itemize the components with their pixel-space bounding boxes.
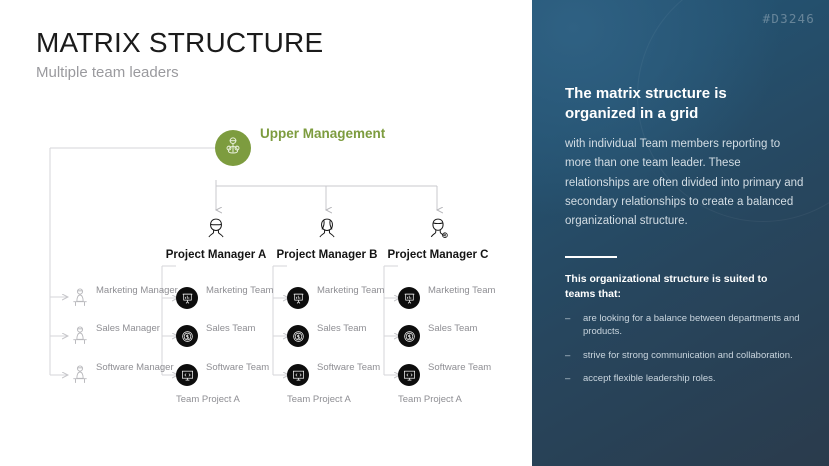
team-label: Sales Team <box>317 322 366 335</box>
team-label: Sales Team <box>206 322 255 335</box>
project-caption: Team Project A <box>176 394 296 405</box>
manager-label: Sales Manager <box>96 322 160 335</box>
team-row[interactable]: Marketing Team <box>176 287 294 313</box>
coin-dollar-icon <box>398 325 420 347</box>
manager-label: Software Manager <box>96 361 174 374</box>
team-label: Software Team <box>206 361 269 374</box>
panel-subheading: This organizational structure is suited … <box>565 272 795 302</box>
list-item: – accept flexible leadership roles. <box>565 372 805 385</box>
project-caption: Team Project A <box>398 394 518 405</box>
project-column-c: Project Manager C <box>382 213 494 263</box>
project-column-b: Project Manager B <box>271 213 383 263</box>
upper-management-node[interactable] <box>215 130 251 166</box>
panel-heading: The matrix structure is organized in a g… <box>565 84 795 125</box>
person-desk-icon <box>70 325 90 347</box>
presentation-board-icon <box>398 287 420 309</box>
list-item-text: are looking for a balance between depart… <box>583 313 800 337</box>
manager-row-sales[interactable]: Sales Manager <box>70 325 190 351</box>
monitor-code-icon <box>287 364 309 386</box>
people-group-icon <box>222 135 244 162</box>
project-caption: Team Project A <box>287 394 407 405</box>
team-label: Software Team <box>317 361 380 374</box>
manager-row-software[interactable]: Software Manager <box>70 364 190 390</box>
manager-row-marketing[interactable]: Marketing Manager <box>70 287 190 313</box>
bullet-dash: – <box>565 372 570 385</box>
presentation-board-icon <box>287 287 309 309</box>
team-label: Sales Team <box>428 322 477 335</box>
project-column-a: Project Manager A <box>160 213 272 263</box>
matrix-org-diagram: Upper Management Project Manager A <box>0 0 532 466</box>
team-row[interactable]: Sales Team <box>287 325 405 351</box>
coin-dollar-icon <box>287 325 309 347</box>
team-row[interactable]: Sales Team <box>398 325 516 351</box>
person-avatar-registered-icon <box>382 213 494 245</box>
project-manager-name: Project Manager B <box>271 248 383 263</box>
document-code: #D3246 <box>763 11 815 26</box>
team-row[interactable]: Software Team <box>398 364 516 390</box>
project-manager-name: Project Manager A <box>160 248 272 263</box>
team-row[interactable]: Software Team <box>287 364 405 390</box>
upper-management-label: Upper Management <box>260 125 390 142</box>
person-avatar-icon <box>271 213 383 245</box>
team-label: Marketing Team <box>317 284 384 297</box>
bullet-dash: – <box>565 312 570 325</box>
team-label: Software Team <box>428 361 491 374</box>
panel-divider <box>565 256 617 258</box>
info-panel: #D3246 The matrix structure is organized… <box>532 0 829 466</box>
person-avatar-icon <box>160 213 272 245</box>
project-manager-name: Project Manager C <box>382 248 494 263</box>
team-label: Marketing Team <box>206 284 273 297</box>
team-row[interactable]: Marketing Team <box>287 287 405 313</box>
bullet-dash: – <box>565 349 570 362</box>
slide-canvas: MATRIX STRUCTURE Multiple team leaders <box>0 0 829 466</box>
monitor-code-icon <box>398 364 420 386</box>
person-desk-icon <box>70 287 90 309</box>
manager-label: Marketing Manager <box>96 284 178 297</box>
panel-body-text: with individual Team members reporting t… <box>565 135 808 232</box>
panel-bullet-list: – are looking for a balance between depa… <box>565 312 805 396</box>
list-item: – strive for strong communication and co… <box>565 349 805 362</box>
team-row[interactable]: Software Team <box>176 364 294 390</box>
person-desk-icon <box>70 364 90 386</box>
list-item-text: strive for strong communication and coll… <box>583 350 793 361</box>
team-row[interactable]: Marketing Team <box>398 287 516 313</box>
team-row[interactable]: Sales Team <box>176 325 294 351</box>
list-item-text: accept flexible leadership roles. <box>583 373 716 384</box>
team-label: Marketing Team <box>428 284 495 297</box>
list-item: – are looking for a balance between depa… <box>565 312 805 339</box>
